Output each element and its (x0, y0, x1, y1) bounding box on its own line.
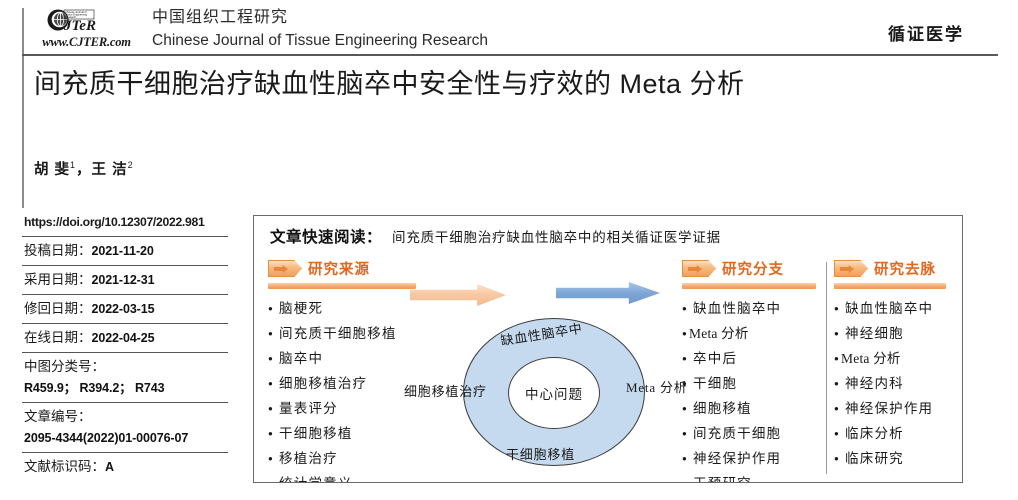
masthead: Chinese Journal of Tissue Engineering Re… (34, 6, 998, 52)
revised-date-label: 修回日期： (24, 301, 92, 316)
metadata-row-document-code: 文献标识码：A (22, 453, 228, 481)
cjter-globe-logo-icon: Chinese Journal of Tissue Engineering Re… (34, 8, 139, 34)
journal-website-url[interactable]: www.CJTER.com (34, 35, 139, 50)
graphical-abstract-panel: 文章快速阅读：间充质干细胞治疗缺血性脑卒中的相关循证医学证据 研究来源 脑梗死 … (253, 215, 963, 483)
research-trend-title: 研究去脉 (874, 258, 936, 279)
column-research-branch: 研究分支 缺血性脑卒中 Meta 分析 卒中后 干细胞 细胞移植 间充质干细胞 … (682, 258, 828, 483)
diagram-label-right: Meta 分析 (626, 377, 688, 396)
quick-read-label: 文章快速阅读： (270, 229, 382, 246)
revised-date-value: 2022-03-15 (92, 302, 155, 316)
list-item: 卒中后 (682, 346, 828, 371)
journal-title-cn: 中国组织工程研究 (152, 6, 488, 30)
research-trend-list: 缺血性脑卒中 神经细胞 Meta 分析 神经内科 神经保护作用 临床分析 临床研… (834, 296, 954, 471)
author-list: 胡 斐1，王 洁2 (34, 158, 134, 179)
article-number-label: 文章编号： (24, 409, 92, 424)
right-arrow-icon-blue (556, 282, 660, 304)
author-affiliation-marker-2: 2 (128, 160, 134, 170)
svg-text:JTeR: JTeR (63, 18, 96, 34)
author-name-2: 王 洁 (92, 162, 128, 178)
metadata-row-revised: 修回日期：2022-03-15 (22, 295, 228, 324)
metadata-row-online: 在线日期：2022-04-25 (22, 324, 228, 353)
concept-ring-inner: 中心问题 (508, 357, 600, 429)
clc-value: R459.9； R394.2； R743 (24, 379, 228, 398)
list-item: 缺血性脑卒中 (682, 296, 828, 321)
metadata-row-clc: 中图分类号： R459.9； R394.2； R743 (22, 353, 228, 403)
research-branch-title: 研究分支 (722, 258, 784, 279)
pentagon-arrow-tag-icon (834, 260, 868, 277)
list-item: 间充质干细胞 (682, 421, 828, 446)
research-trend-tag: 研究去脉 (834, 258, 954, 280)
clc-label: 中图分类号： (24, 359, 105, 374)
pentagon-arrow-tag-icon (682, 260, 716, 277)
list-item: 神经细胞 (834, 321, 954, 346)
research-trend-underline (834, 283, 946, 289)
list-item: Meta 分析 (682, 321, 828, 346)
metadata-row-article-number: 文章编号： 2095-4344(2022)01-00076-07 (22, 403, 228, 453)
pentagon-arrow-tag-icon (268, 260, 302, 277)
section-label: 循证医学 (888, 20, 964, 45)
journal-title-en: Chinese Journal of Tissue Engineering Re… (152, 30, 488, 52)
list-item: 缺血性脑卒中 (834, 296, 954, 321)
quick-read-summary: 间充质干细胞治疗缺血性脑卒中的相关循证医学证据 (392, 230, 721, 245)
article-number-value: 2095-4344(2022)01-00076-07 (24, 429, 228, 448)
research-branch-underline (682, 283, 816, 289)
quick-read-header: 文章快速阅读：间充质干细胞治疗缺血性脑卒中的相关循证医学证据 (270, 225, 721, 247)
metadata-row-doi[interactable]: https://doi.org/10.12307/2022.981 (22, 212, 228, 237)
page-left-rule (22, 8, 24, 208)
accepted-date-value: 2021-12-31 (92, 273, 155, 287)
list-item: 干预研究 (682, 471, 828, 483)
page-title: 间充质干细胞治疗缺血性脑卒中安全性与疗效的 Meta 分析 (34, 64, 958, 104)
document-code-value: A (105, 460, 114, 474)
submitted-date-label: 投稿日期： (24, 243, 92, 258)
cjter-logo-svg: Chinese Journal of Tissue Engineering Re… (34, 8, 139, 34)
list-item: 临床分析 (834, 421, 954, 446)
masthead-divider (22, 54, 998, 56)
online-date-label: 在线日期： (24, 330, 92, 345)
research-source-title: 研究来源 (308, 258, 370, 279)
doi-link[interactable]: https://doi.org/10.12307/2022.981 (24, 215, 204, 229)
list-item: 神经内科 (834, 371, 954, 396)
column-research-trend: 研究去脉 缺血性脑卒中 神经细胞 Meta 分析 神经内科 神经保护作用 临床分… (834, 258, 954, 483)
list-item: 临床研究 (834, 446, 954, 471)
list-item: 神经保护作用 (682, 446, 828, 471)
research-branch-tag: 研究分支 (682, 258, 828, 280)
online-date-value: 2022-04-25 (92, 331, 155, 345)
journal-logo: Chinese Journal of Tissue Engineering Re… (34, 8, 139, 50)
central-concept-diagram: 中心问题 缺血性脑卒中 细胞移植治疗 Meta 分析 干细胞移植 (404, 276, 704, 481)
accepted-date-label: 采用日期： (24, 272, 92, 287)
document-code-label: 文献标识码： (24, 459, 105, 474)
research-branch-list: 缺血性脑卒中 Meta 分析 卒中后 干细胞 细胞移植 间充质干细胞 神经保护作… (682, 296, 828, 483)
list-item: 干细胞 (682, 371, 828, 396)
list-item: Meta 分析 (834, 346, 954, 371)
list-item: 神经保护作用 (834, 396, 954, 421)
diagram-label-left: 细胞移植治疗 (404, 381, 487, 400)
journal-names: 中国组织工程研究 Chinese Journal of Tissue Engin… (152, 6, 488, 52)
right-arrow-icon-orange (410, 284, 506, 306)
submitted-date-value: 2021-11-20 (92, 244, 154, 258)
list-item: 细胞移植 (682, 396, 828, 421)
metadata-row-submitted: 投稿日期：2021-11-20 (22, 237, 228, 266)
author-name-1: 胡 斐 (34, 162, 70, 178)
article-metadata-panel: https://doi.org/10.12307/2022.981 投稿日期：2… (22, 212, 228, 481)
author-separator: ， (76, 162, 92, 178)
central-question-label: 中心问题 (509, 358, 599, 428)
column-divider (826, 262, 827, 474)
metadata-row-accepted: 采用日期：2021-12-31 (22, 266, 228, 295)
research-source-underline (268, 283, 416, 289)
diagram-label-bottom: 干细胞移植 (506, 444, 575, 463)
